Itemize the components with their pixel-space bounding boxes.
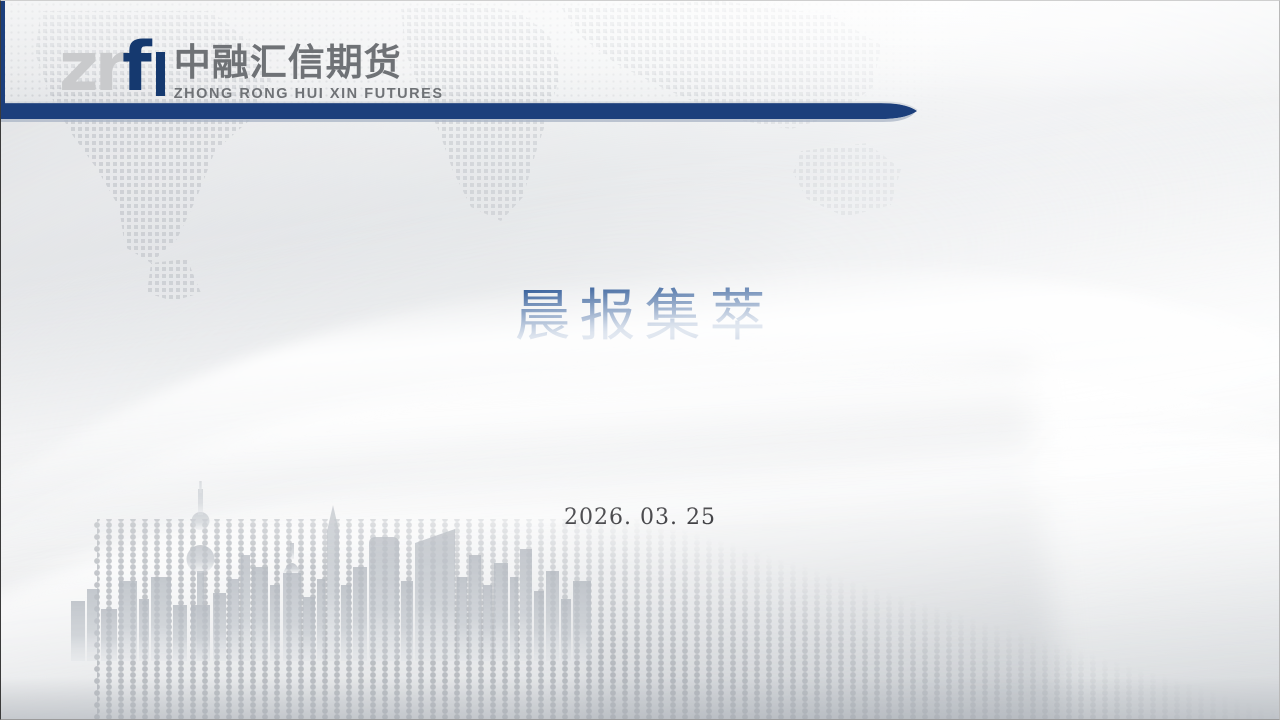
logo-monogram-icon: zrf bbox=[59, 36, 148, 100]
logo-company-name-en: ZHONG RONG HUI XIN FUTURES bbox=[174, 85, 444, 103]
logo-monogram-zr: zr bbox=[59, 36, 124, 100]
logo-monogram-f: f bbox=[122, 36, 148, 100]
logo-company-name-cn: 中融汇信期货 bbox=[174, 43, 444, 83]
city-skyline-graphic bbox=[71, 481, 591, 661]
left-accent-bar bbox=[1, 1, 5, 119]
logo-divider bbox=[156, 52, 165, 96]
company-logo: zrf 中融汇信期货 ZHONG RONG HUI XIN FUTURES bbox=[59, 34, 444, 106]
title-slide: zrf 中融汇信期货 ZHONG RONG HUI XIN FUTURES 晨报… bbox=[0, 0, 1280, 720]
slide-title: 晨报集萃 bbox=[1, 284, 1279, 350]
logo-wordmark: 中融汇信期货 ZHONG RONG HUI XIN FUTURES bbox=[174, 43, 444, 103]
